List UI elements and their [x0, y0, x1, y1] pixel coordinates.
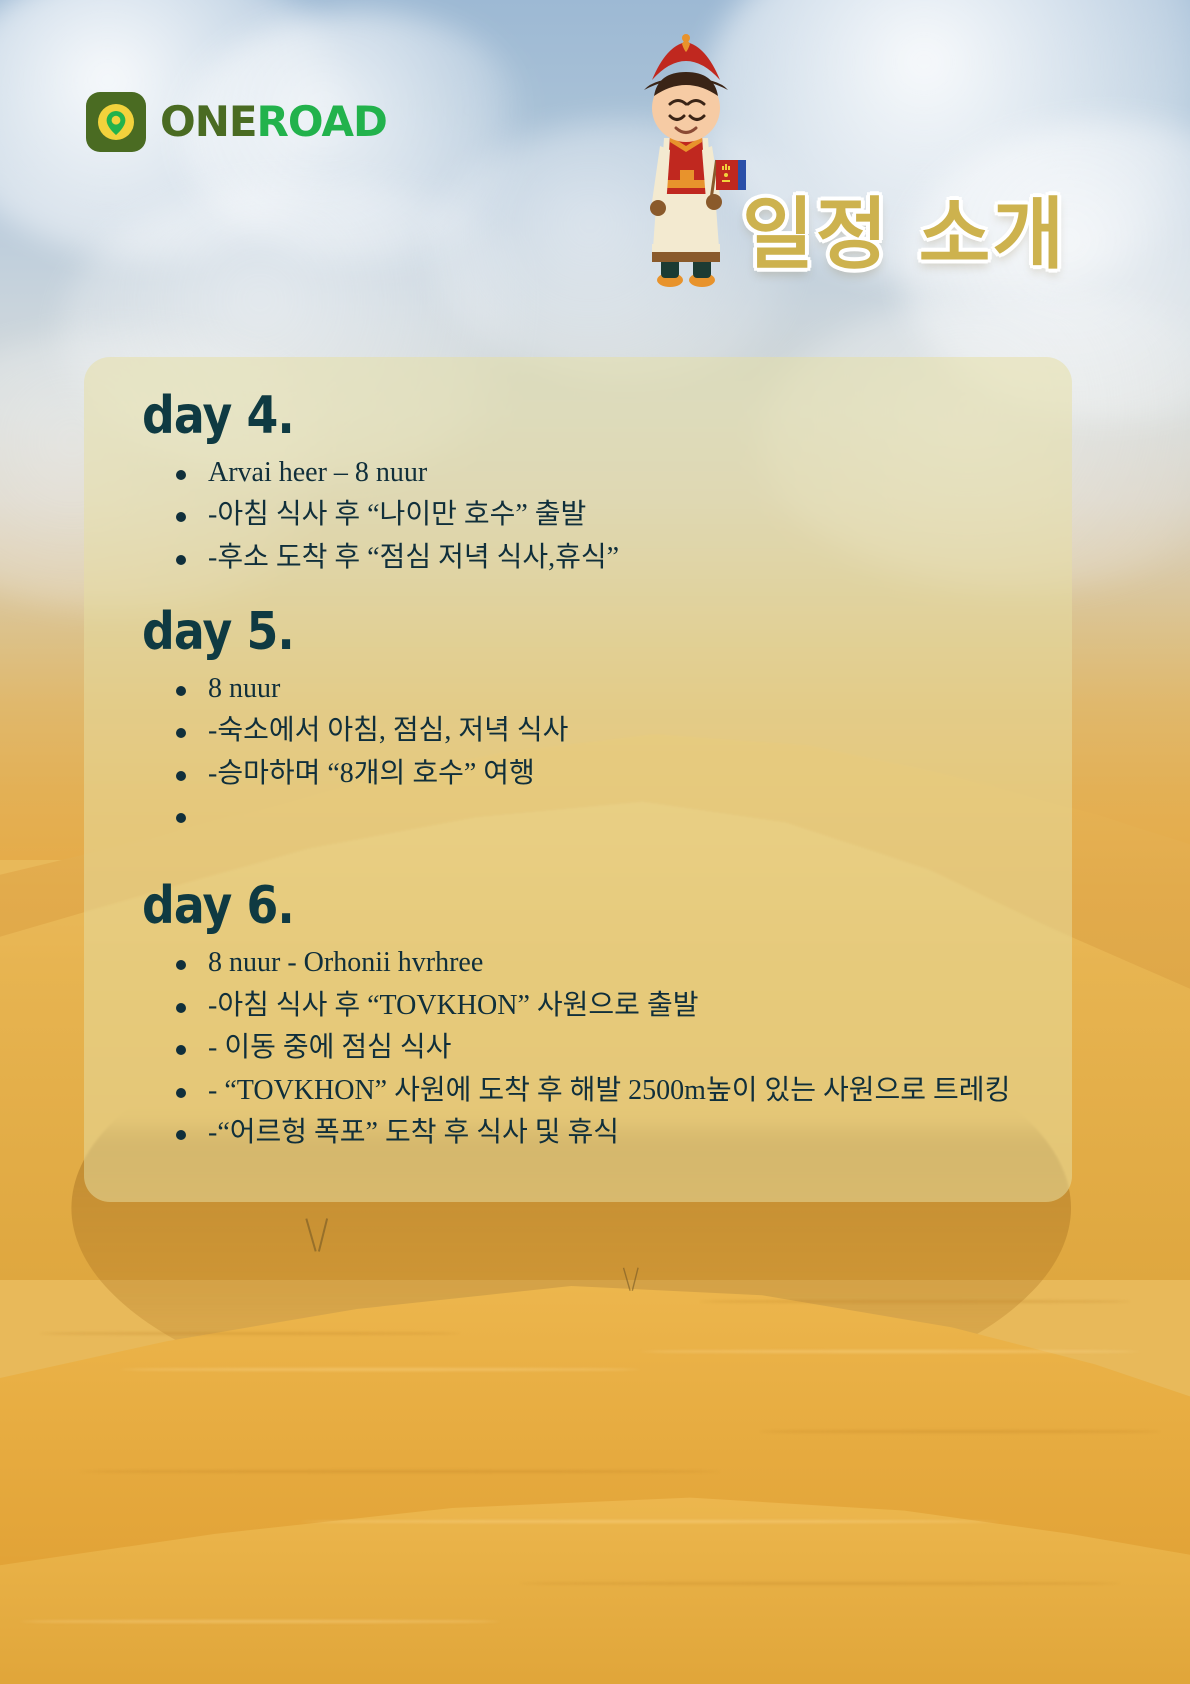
day-list-6: 8 nuur - Orhonii hvrhree -아침 식사 후 “TOVKH… [166, 942, 1038, 1155]
list-item: - 이동 중에 점심 식사 [166, 1027, 1038, 1070]
sand-ripple [120, 1368, 640, 1371]
mongolian-boy-with-flag-icon [626, 30, 746, 290]
page-title: 일정 소개 [742, 172, 1066, 284]
list-item: -아침 식사 후 “나이만 호수” 출발 [166, 494, 1038, 537]
day-list-5: 8 nuur -숙소에서 아침, 점심, 저녁 식사 -승마하며 “8개의 호수… [166, 668, 1038, 840]
logo-wordmark: ONEROAD [160, 101, 387, 143]
list-item: -“어르헝 폭포” 도착 후 식사 및 휴식 [166, 1112, 1038, 1155]
sand-ripple [760, 1430, 1160, 1433]
list-item: -숙소에서 아침, 점심, 저녁 식사 [166, 710, 1038, 753]
itinerary-content: day 4. Arvai heer – 8 nuur -아침 식사 후 “나이만… [84, 357, 1072, 1202]
itinerary-card: day 4. Arvai heer – 8 nuur -아침 식사 후 “나이만… [84, 357, 1072, 1202]
list-item: - “TOVKHON” 사원에 도착 후 해발 2500m높이 있는 사원으로 … [166, 1070, 1038, 1113]
list-item: -승마하며 “8개의 호수” 여행 [166, 753, 1038, 796]
sand-ripple [700, 1300, 1130, 1303]
desert-shrub [607, 1259, 656, 1291]
list-item: Arvai heer – 8 nuur [166, 452, 1038, 495]
list-item: 8 nuur - Orhonii hvrhree [166, 942, 1038, 985]
sand-ripple [300, 1520, 1000, 1523]
sand-ripple [20, 1620, 500, 1623]
logo-text-road: ROAD [257, 97, 387, 146]
day-heading-4: day 4. [142, 389, 930, 444]
sand-ripple [40, 1332, 460, 1335]
day-heading-5: day 5. [142, 605, 930, 660]
logo-mark [86, 92, 146, 152]
day-heading-6: day 6. [142, 879, 930, 934]
list-item: 8 nuur [166, 668, 1038, 711]
list-item: -후소 도착 후 “점심 저녁 식사,휴식” [166, 537, 1038, 580]
brand-logo[interactable]: ONEROAD [86, 92, 387, 152]
list-item: -아침 식사 후 “TOVKHON” 사원으로 출발 [166, 985, 1038, 1028]
desert-shrub [282, 1206, 352, 1252]
poster-canvas: ONEROAD [0, 0, 1190, 1684]
day-list-4: Arvai heer – 8 nuur -아침 식사 후 “나이만 호수” 출발… [166, 452, 1038, 580]
logo-text-one: ONE [160, 97, 257, 146]
sand-ripple [520, 1582, 1120, 1585]
sand-ripple [80, 1470, 720, 1473]
sand-ripple [640, 1350, 1140, 1353]
location-pin-icon [96, 102, 136, 142]
list-item-empty [166, 795, 1038, 839]
